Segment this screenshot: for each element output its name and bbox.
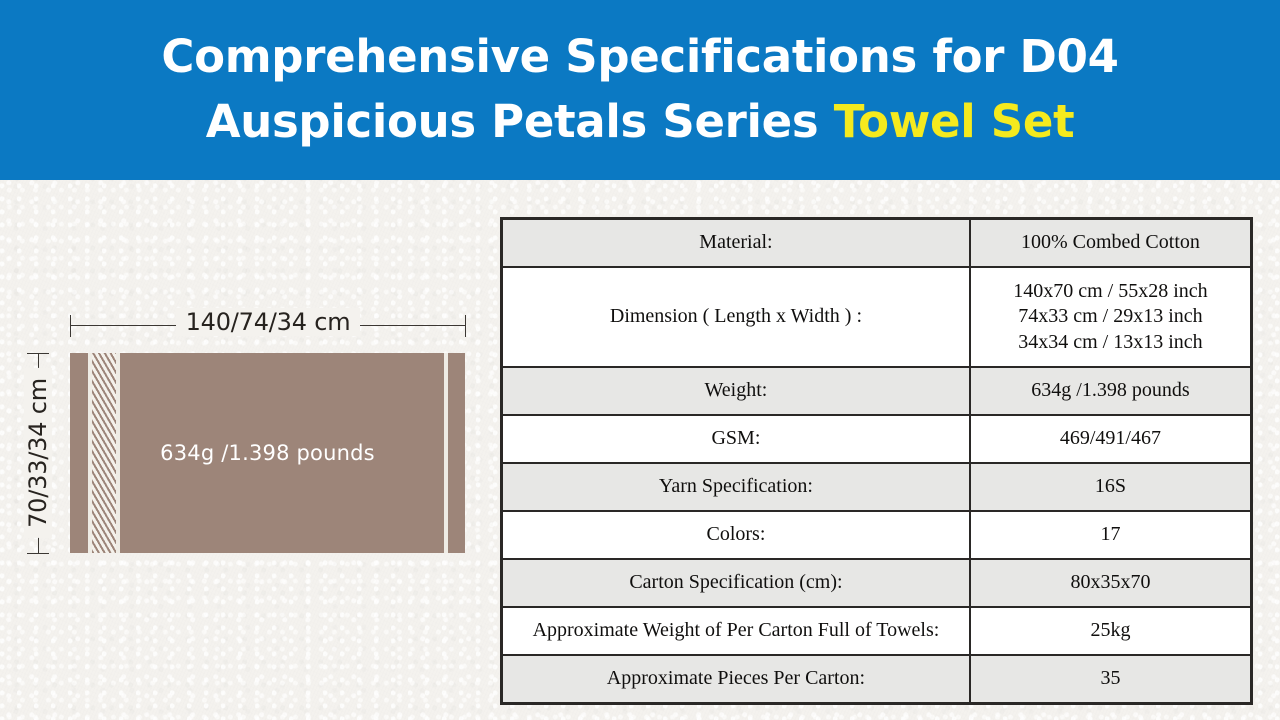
- spec-value-cell: 100% Combed Cotton: [970, 219, 1252, 268]
- height-dimension-tick-top: [27, 353, 49, 354]
- table-row: Material:100% Combed Cotton: [502, 219, 1252, 268]
- spec-value-cell: 35: [970, 655, 1252, 704]
- header-banner: Comprehensive Specifications for D04 Aus…: [0, 0, 1280, 180]
- header-title-line-1: Comprehensive Specifications for D04: [161, 25, 1118, 90]
- table-row: Weight:634g /1.398 pounds: [502, 367, 1252, 415]
- specification-table-body: Material:100% Combed CottonDimension ( L…: [502, 219, 1252, 704]
- table-row: Yarn Specification:16S: [502, 463, 1252, 511]
- width-dimension-text: 140/74/34 cm: [176, 308, 361, 336]
- table-row: Carton Specification (cm):80x35x70: [502, 559, 1252, 607]
- specification-table-container: Material:100% Combed CottonDimension ( L…: [500, 217, 1253, 705]
- table-row: Dimension ( Length x Width ) :140x70 cm …: [502, 267, 1252, 367]
- spec-value-text: 469/491/467: [975, 426, 1246, 452]
- spec-value-text: 35: [975, 666, 1246, 692]
- spec-value-text: 140x70 cm / 55x28 inch 74x33 cm / 29x13 …: [975, 279, 1246, 356]
- spec-label-cell: Colors:: [502, 511, 970, 559]
- spec-value-text: 16S: [975, 474, 1246, 500]
- spec-label-cell: Material:: [502, 219, 970, 268]
- spec-value-cell: 25kg: [970, 607, 1252, 655]
- spec-value-text: 25kg: [975, 618, 1246, 644]
- towel-weight-label: 634g /1.398 pounds: [70, 441, 465, 465]
- towel-illustration: 140/74/34 cm 70/33/34 cm 634g /1.398 pou…: [0, 180, 500, 720]
- spec-label-cell: Approximate Weight of Per Carton Full of…: [502, 607, 970, 655]
- spec-label-cell: Dimension ( Length x Width ) :: [502, 267, 970, 367]
- specification-table: Material:100% Combed CottonDimension ( L…: [500, 217, 1253, 705]
- spec-value-cell: 16S: [970, 463, 1252, 511]
- spec-label-cell: Approximate Pieces Per Carton:: [502, 655, 970, 704]
- spec-value-cell: 140x70 cm / 55x28 inch 74x33 cm / 29x13 …: [970, 267, 1252, 367]
- header-title-line-2: Auspicious Petals Series Towel Set: [206, 90, 1075, 155]
- table-row: Approximate Pieces Per Carton:35: [502, 655, 1252, 704]
- spec-value-cell: 469/491/467: [970, 415, 1252, 463]
- header-title-accent: Towel Set: [834, 95, 1075, 148]
- spec-value-text: 17: [975, 522, 1246, 548]
- spec-value-cell: 17: [970, 511, 1252, 559]
- spec-value-text: 80x35x70: [975, 570, 1246, 596]
- table-row: GSM:469/491/467: [502, 415, 1252, 463]
- spec-value-text: 100% Combed Cotton: [975, 230, 1246, 256]
- width-dimension-label: 140/74/34 cm: [70, 308, 466, 336]
- height-dimension-text: 70/33/34 cm: [24, 368, 52, 538]
- slide-canvas: Comprehensive Specifications for D04 Aus…: [0, 0, 1280, 720]
- header-title-line-2-main: Auspicious Petals Series: [206, 95, 834, 148]
- spec-label-cell: Carton Specification (cm):: [502, 559, 970, 607]
- spec-label-cell: GSM:: [502, 415, 970, 463]
- spec-value-cell: 80x35x70: [970, 559, 1252, 607]
- height-dimension-tick-bottom: [27, 553, 49, 554]
- spec-label-cell: Yarn Specification:: [502, 463, 970, 511]
- table-row: Colors:17: [502, 511, 1252, 559]
- spec-value-cell: 634g /1.398 pounds: [970, 367, 1252, 415]
- spec-value-text: 634g /1.398 pounds: [975, 378, 1246, 404]
- table-row: Approximate Weight of Per Carton Full of…: [502, 607, 1252, 655]
- towel-graphic: 634g /1.398 pounds: [70, 353, 465, 553]
- spec-label-cell: Weight:: [502, 367, 970, 415]
